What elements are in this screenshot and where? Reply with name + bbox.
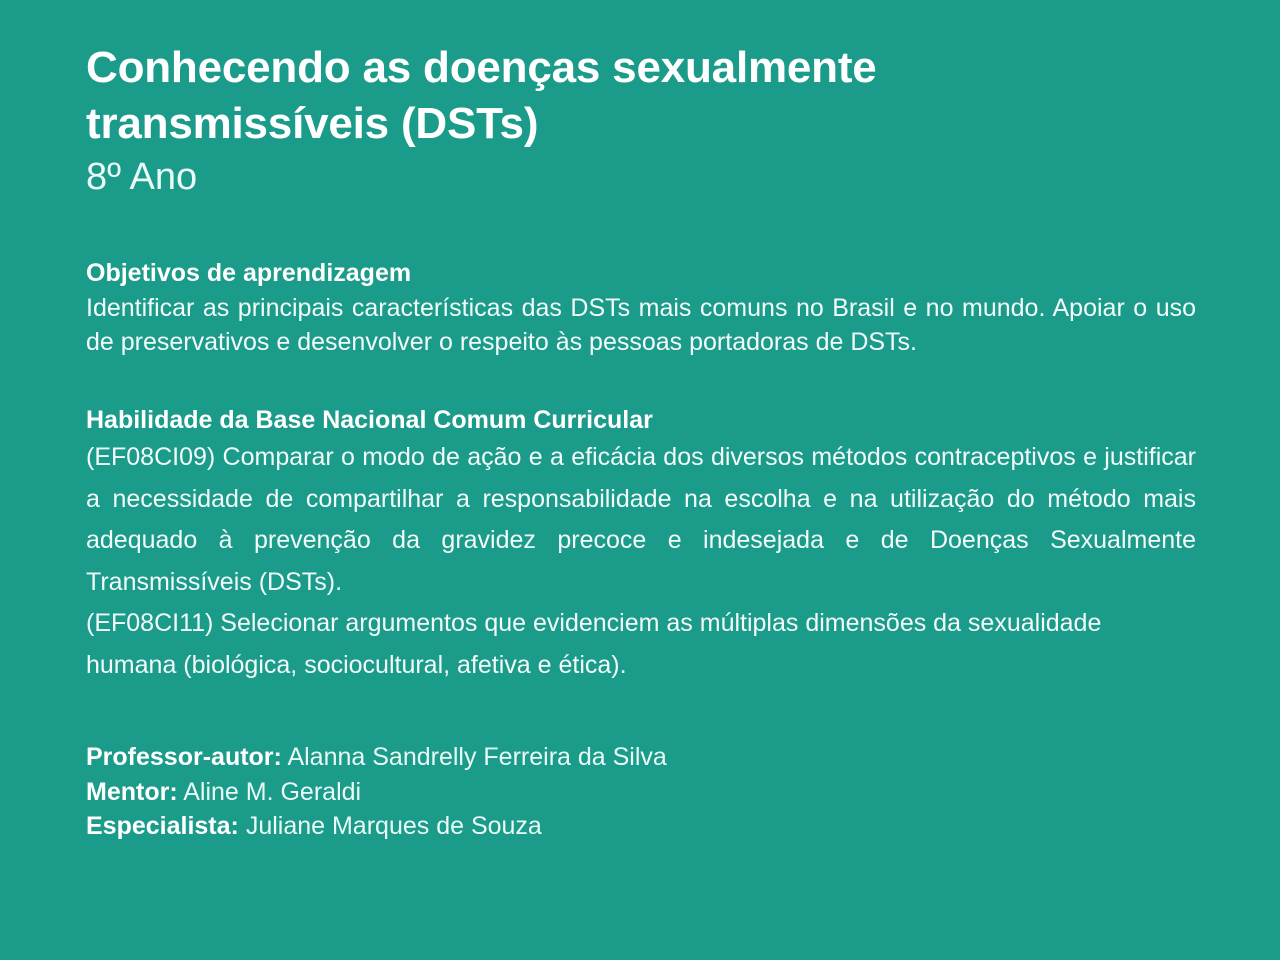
credit-role-label: Mentor: (86, 778, 178, 806)
credit-row-mentor: Mentor: Aline M. Geraldi (86, 775, 1196, 810)
slide-root: Conhecendo as doenças sexualmente transm… (0, 0, 1280, 960)
objectives-heading: Objetivos de aprendizagem (86, 259, 1196, 289)
credit-role-label: Especialista: (86, 812, 239, 840)
section-habilidade-bncc: Habilidade da Base Nacional Comum Curric… (86, 406, 1196, 687)
credit-person-name: Aline M. Geraldi (183, 778, 361, 806)
objectives-body: Identificar as principais característica… (86, 291, 1196, 360)
page-title: Conhecendo as doenças sexualmente transm… (86, 40, 1006, 153)
title-block: Conhecendo as doenças sexualmente transm… (86, 40, 1196, 199)
credit-person-name: Juliane Marques de Souza (246, 812, 542, 840)
section-objetivos-de-aprendizagem: Objetivos de aprendizagem Identificar as… (86, 259, 1196, 360)
bncc-skill-item: (EF08CI09) Comparar o modo de ação e a e… (86, 437, 1196, 603)
credit-row-professor-autor: Professor-autor: Alanna Sandrelly Ferrei… (86, 740, 1196, 775)
bncc-skill-item: (EF08CI11) Selecionar argumentos que evi… (86, 603, 1196, 686)
bncc-skill-list: (EF08CI09) Comparar o modo de ação e a e… (86, 437, 1196, 686)
credit-row-especialista: Especialista: Juliane Marques de Souza (86, 809, 1196, 844)
credits-block: Professor-autor: Alanna Sandrelly Ferrei… (86, 740, 1196, 844)
page-subtitle: 8º Ano (86, 155, 1196, 200)
credit-person-name: Alanna Sandrelly Ferreira da Silva (287, 743, 666, 771)
bncc-heading: Habilidade da Base Nacional Comum Curric… (86, 406, 1196, 436)
credit-role-label: Professor-autor: (86, 743, 282, 771)
